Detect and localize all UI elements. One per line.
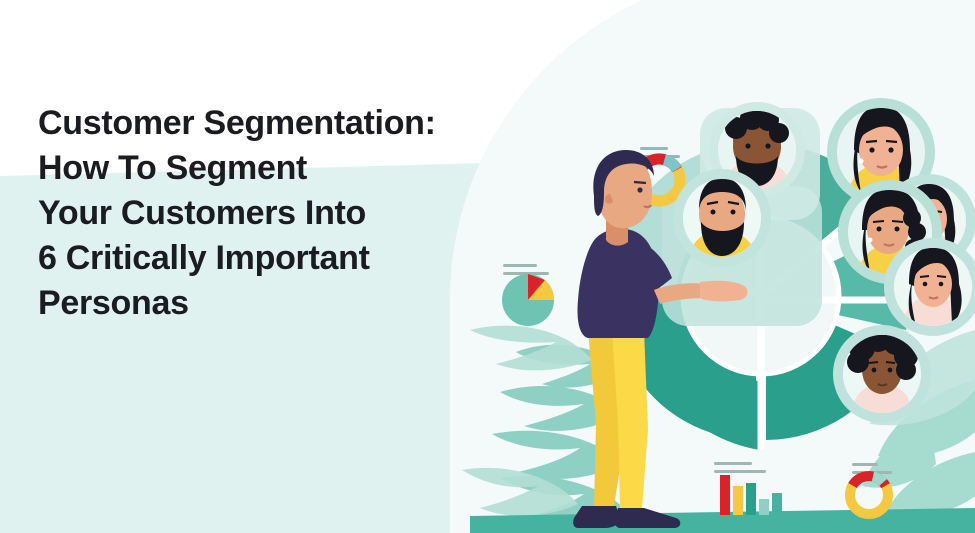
hero-banner: Customer Segmentation: How To Segment Yo…	[0, 0, 975, 533]
bar-label-2	[714, 470, 766, 473]
presenter-brow	[634, 182, 646, 183]
page-title: Customer Segmentation: How To Segment Yo…	[38, 101, 508, 326]
bar-1	[720, 475, 730, 515]
bar-4	[759, 499, 769, 515]
bar-5	[772, 493, 782, 515]
bar-2	[733, 486, 743, 515]
bar-3	[746, 483, 756, 515]
pie-label-line-1	[503, 264, 537, 267]
bar-label-1	[714, 462, 752, 465]
donut-br-label-1	[852, 463, 878, 466]
presenter-shoe-back	[573, 506, 620, 528]
small-pie-chart-left	[502, 264, 554, 326]
donut-top-label-1	[640, 147, 668, 150]
presenter-eye	[637, 187, 642, 192]
